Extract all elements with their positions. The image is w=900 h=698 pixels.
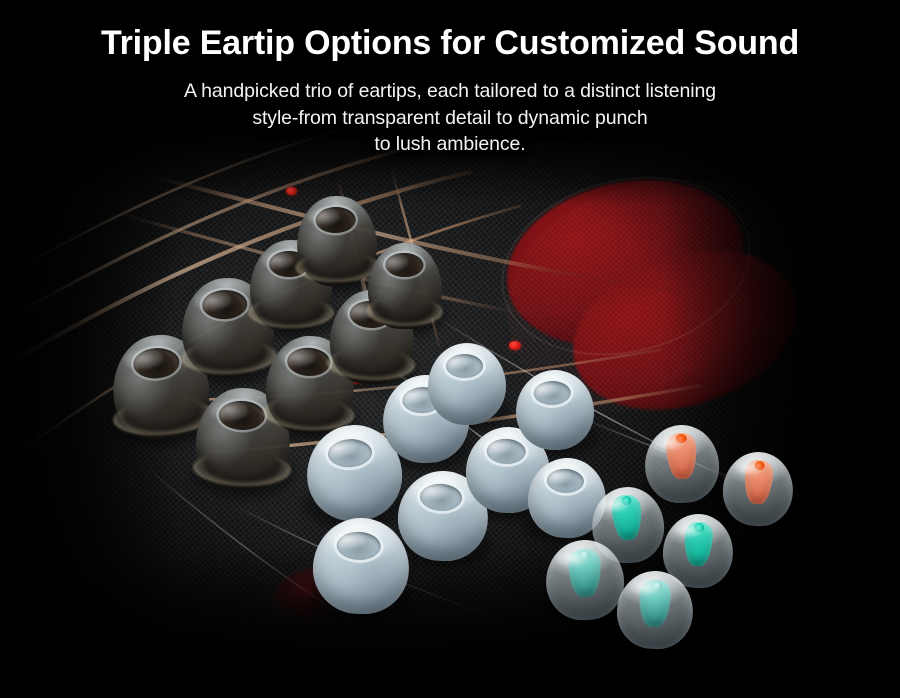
eartip-body: [311, 516, 410, 615]
eartips-product-photo: [0, 0, 900, 698]
eartip-frost: [428, 343, 506, 425]
red-speck-0: [286, 187, 297, 195]
eartip-body: [515, 369, 594, 450]
eartip-tealsoft: [545, 539, 626, 622]
eartip-frost: [311, 516, 410, 615]
eartip-smoke: [296, 195, 378, 286]
eartip-body: [296, 195, 378, 286]
eartip-body: [428, 343, 506, 425]
eartip-frost: [515, 369, 594, 450]
eartip-body: [615, 569, 695, 651]
red-speck-1: [509, 341, 521, 350]
product-banner: Triple Eartip Options for Customized Sou…: [0, 0, 900, 698]
eartip-body: [367, 242, 442, 329]
eartip-body: [545, 539, 626, 622]
eartip-tealsoft: [615, 569, 695, 651]
eartip-smoke: [367, 242, 442, 329]
